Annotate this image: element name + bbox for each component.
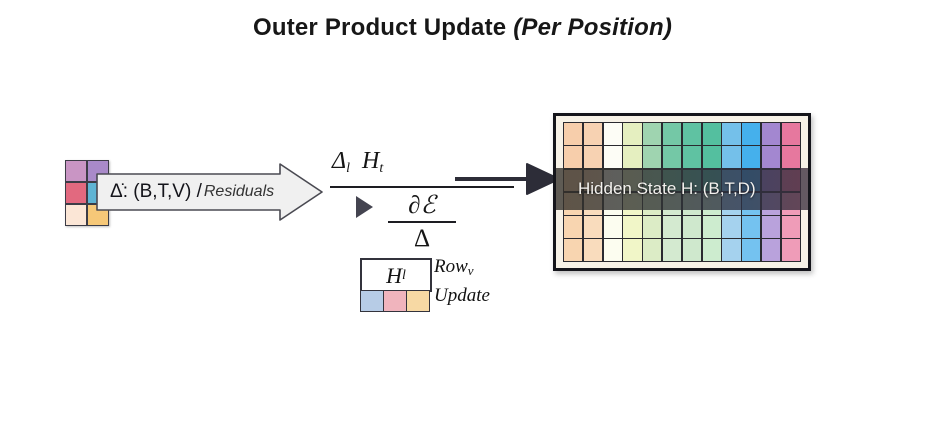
hidden-state-cell — [782, 216, 800, 238]
title-main: Outer Product Update — [253, 14, 506, 41]
hidden-state-cell — [643, 146, 661, 168]
hidden-state-cell — [742, 239, 760, 261]
delta-cell — [66, 205, 86, 225]
h-symbol: H — [362, 148, 379, 174]
update-cell — [384, 291, 406, 311]
hl-box: Hl — [360, 258, 432, 292]
hidden-state-cell — [703, 146, 721, 168]
delta-symbol: Δ — [332, 148, 346, 174]
hidden-state-cell — [722, 239, 740, 261]
hidden-state-cell — [762, 216, 780, 238]
delta-shape-label: Δ̇: (B,T,V) / — [110, 181, 202, 203]
formula-numerator: Δl Ht — [332, 148, 383, 177]
hidden-state-cell — [762, 239, 780, 261]
flow-arrow — [455, 158, 565, 198]
play-triangle-icon — [356, 196, 373, 218]
page-title: Outer Product Update (Per Position) — [0, 14, 925, 42]
fraction-bar — [388, 221, 456, 223]
hidden-state-cell — [604, 239, 622, 261]
hidden-state-cell — [584, 216, 602, 238]
hidden-state-cell — [782, 239, 800, 261]
hidden-state-cell — [623, 146, 641, 168]
hidden-state-cell — [643, 216, 661, 238]
hidden-state-cell — [683, 239, 701, 261]
hidden-state-cell — [722, 216, 740, 238]
diagram-canvas: Outer Product Update (Per Position) Δ̇: … — [0, 0, 925, 424]
hidden-state-overlay: Hidden State H: (B,T,D) — [556, 168, 808, 210]
hidden-state-cell — [604, 216, 622, 238]
row-word: Row — [434, 256, 468, 277]
fraction-denominator: Δ — [382, 225, 462, 253]
hidden-state-cell — [564, 216, 582, 238]
hidden-state-cell — [703, 123, 721, 145]
residuals-word: Residuals — [202, 183, 274, 201]
hidden-state-cell — [663, 216, 681, 238]
hidden-state-cell — [683, 123, 701, 145]
hidden-state-cell — [623, 123, 641, 145]
hidden-state-cell — [722, 123, 740, 145]
update-cell — [407, 291, 429, 311]
hidden-state-cell — [604, 146, 622, 168]
hidden-state-cell — [683, 146, 701, 168]
h-subscript: t — [379, 161, 383, 176]
hl-letter: H — [386, 263, 402, 289]
hidden-state-cell — [703, 216, 721, 238]
hidden-state-mat: Hidden State H: (B,T,D) — [556, 116, 808, 268]
hidden-state-cell — [564, 123, 582, 145]
hidden-state-cell — [722, 146, 740, 168]
residuals-arrow-label: Δ̇: (B,T,V) / Residuals — [110, 163, 274, 221]
hidden-state-cell — [683, 216, 701, 238]
hidden-state-cell — [762, 123, 780, 145]
row-update-labels: Rowv Update — [434, 252, 490, 311]
gradient-fraction: ∂ℰ Δ — [382, 192, 462, 252]
hidden-state-cell — [782, 146, 800, 168]
row-label-line: Rowv — [434, 252, 490, 281]
hidden-state-cell — [584, 239, 602, 261]
delta-subscript: l — [346, 161, 350, 176]
hidden-state-cell — [663, 123, 681, 145]
delta-cell — [66, 161, 86, 181]
hidden-state-cell — [564, 239, 582, 261]
hidden-state-cell — [584, 123, 602, 145]
row-subscript: v — [468, 263, 474, 278]
hidden-state-cell — [742, 146, 760, 168]
hidden-state-cell — [564, 146, 582, 168]
hidden-state-cell — [742, 216, 760, 238]
update-swatch — [360, 290, 430, 312]
hl-subscript: l — [402, 268, 406, 284]
residuals-block-arrow: Δ̇: (B,T,V) / Residuals — [96, 163, 324, 221]
hidden-state-cell — [623, 239, 641, 261]
hidden-state-cell — [604, 123, 622, 145]
fraction-numerator: ∂ℰ — [382, 192, 462, 220]
hidden-state-cell — [663, 146, 681, 168]
title-paren: (Per Position) — [513, 14, 672, 41]
hidden-state-label: Hidden State H: (B,T,D) — [556, 179, 756, 199]
hidden-state-cell — [623, 216, 641, 238]
update-cell — [361, 291, 383, 311]
hidden-state-cell — [584, 146, 602, 168]
hidden-state-cell — [663, 239, 681, 261]
hidden-state-cell — [762, 146, 780, 168]
hidden-state-cell — [742, 123, 760, 145]
hidden-state-cell — [703, 239, 721, 261]
update-word: Update — [434, 281, 490, 310]
hidden-state-cell — [643, 123, 661, 145]
hidden-state-panel: Hidden State H: (B,T,D) — [553, 113, 811, 271]
hidden-state-cell — [782, 123, 800, 145]
delta-cell — [66, 183, 86, 203]
hidden-state-cell — [643, 239, 661, 261]
